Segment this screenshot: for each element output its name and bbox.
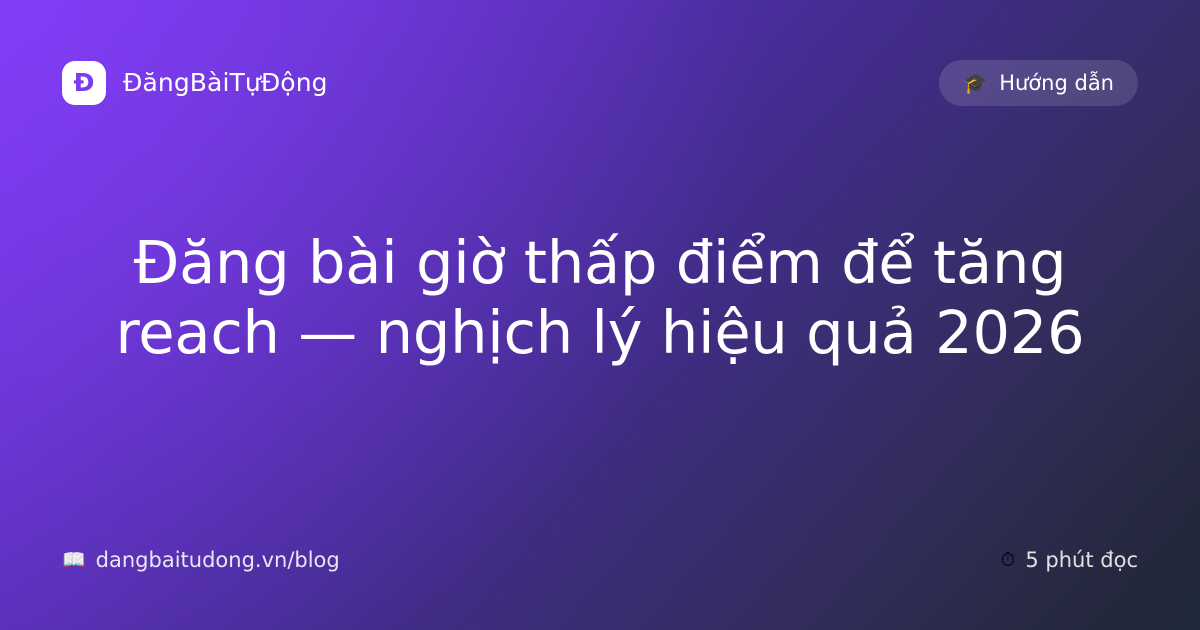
title-container: Đăng bài giờ thấp điểm để tăng reach — n… bbox=[50, 228, 1150, 368]
card-footer: 📖 dangbaitudong.vn/blog ⏱ 5 phút đọc bbox=[0, 490, 1200, 630]
guide-badge[interactable]: 🎓 Hướng dẫn bbox=[939, 60, 1138, 106]
stopwatch-icon: ⏱ bbox=[1001, 551, 1016, 570]
site-url[interactable]: 📖 dangbaitudong.vn/blog bbox=[62, 548, 340, 572]
card-header: Đ ĐăngBàiTựĐộng 🎓 Hướng dẫn bbox=[0, 0, 1200, 165]
brand-logo-icon: Đ bbox=[62, 61, 106, 105]
brand-name: ĐăngBàiTựĐộng bbox=[123, 68, 328, 97]
open-book-icon: 📖 bbox=[62, 551, 86, 570]
site-url-label: dangbaitudong.vn/blog bbox=[96, 548, 340, 572]
og-card: Đ ĐăngBàiTựĐộng 🎓 Hướng dẫn Đăng bài giờ… bbox=[0, 0, 1200, 630]
guide-badge-label: Hướng dẫn bbox=[999, 71, 1114, 95]
read-time-label: 5 phút đọc bbox=[1025, 548, 1138, 572]
page-title: Đăng bài giờ thấp điểm để tăng reach — n… bbox=[50, 228, 1150, 368]
read-time: ⏱ 5 phút đọc bbox=[1001, 548, 1138, 572]
brand[interactable]: Đ ĐăngBàiTựĐộng bbox=[62, 61, 328, 105]
graduation-cap-icon: 🎓 bbox=[963, 73, 988, 93]
